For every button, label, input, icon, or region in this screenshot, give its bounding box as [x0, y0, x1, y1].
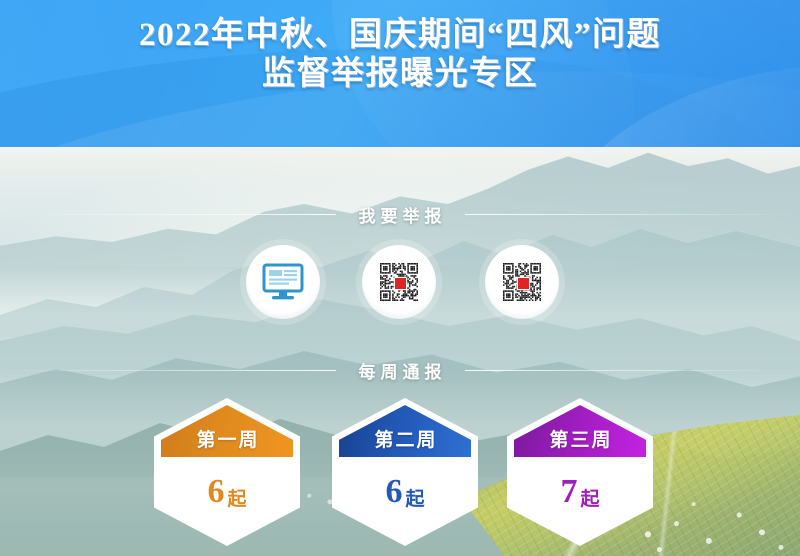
section-heading-report-label: 我要举报	[336, 202, 465, 227]
badge-count: 6	[385, 475, 402, 509]
badge-count: 6	[207, 475, 224, 509]
divider-line-left	[0, 214, 336, 215]
badge-body: 6 起	[339, 457, 471, 539]
section-heading-weekly: 每周通报	[0, 358, 800, 383]
badge-header: 第二周	[339, 405, 471, 457]
page-title: 2022年中秋、国庆期间“四风”问题 监督举报曝光专区	[0, 0, 800, 94]
qr-center-logo	[517, 277, 530, 290]
monitor-icon	[262, 263, 304, 301]
badge-unit: 起	[227, 484, 246, 511]
divider-line-left	[0, 370, 336, 371]
weekly-badge-week-2[interactable]: 第二周 6 起	[332, 398, 478, 546]
badge-body: 6 起	[161, 457, 293, 539]
divider-line-right	[465, 370, 800, 371]
section-heading-report: 我要举报	[0, 202, 800, 227]
poster-page: 2022年中秋、国庆期间“四风”问题 监督举报曝光专区 我要举报	[0, 0, 800, 556]
report-channel-list	[0, 245, 800, 319]
badge-unit: 起	[580, 484, 599, 511]
badge-body: 7 起	[514, 457, 646, 539]
badge-unit: 起	[405, 484, 424, 511]
weekly-badge-list: 第一周 6 起 第二周 6 起	[0, 398, 800, 548]
report-channel-qr-1[interactable]	[362, 245, 436, 319]
badge-count: 7	[560, 475, 577, 509]
badge-header: 第三周	[514, 405, 646, 457]
badge-week-label: 第三周	[547, 425, 612, 452]
weekly-badge-week-3[interactable]: 第三周 7 起	[507, 398, 653, 546]
badge-week-label: 第二周	[372, 425, 437, 452]
qr-center-logo	[394, 277, 407, 290]
weekly-badge-week-1[interactable]: 第一周 6 起	[154, 398, 300, 546]
qr-code-icon	[380, 263, 418, 301]
report-channel-qr-2[interactable]	[485, 245, 559, 319]
section-heading-weekly-label: 每周通报	[336, 358, 465, 383]
qr-code-icon	[503, 263, 541, 301]
page-banner: 2022年中秋、国庆期间“四风”问题 监督举报曝光专区	[0, 0, 800, 147]
badge-header: 第一周	[161, 405, 293, 457]
badge-week-label: 第一周	[194, 425, 259, 452]
page-title-line-2: 监督举报曝光专区	[0, 55, 800, 94]
report-channel-website[interactable]	[246, 245, 320, 319]
divider-line-right	[465, 214, 800, 215]
page-title-line-1: 2022年中秋、国庆期间“四风”问题	[0, 16, 800, 55]
